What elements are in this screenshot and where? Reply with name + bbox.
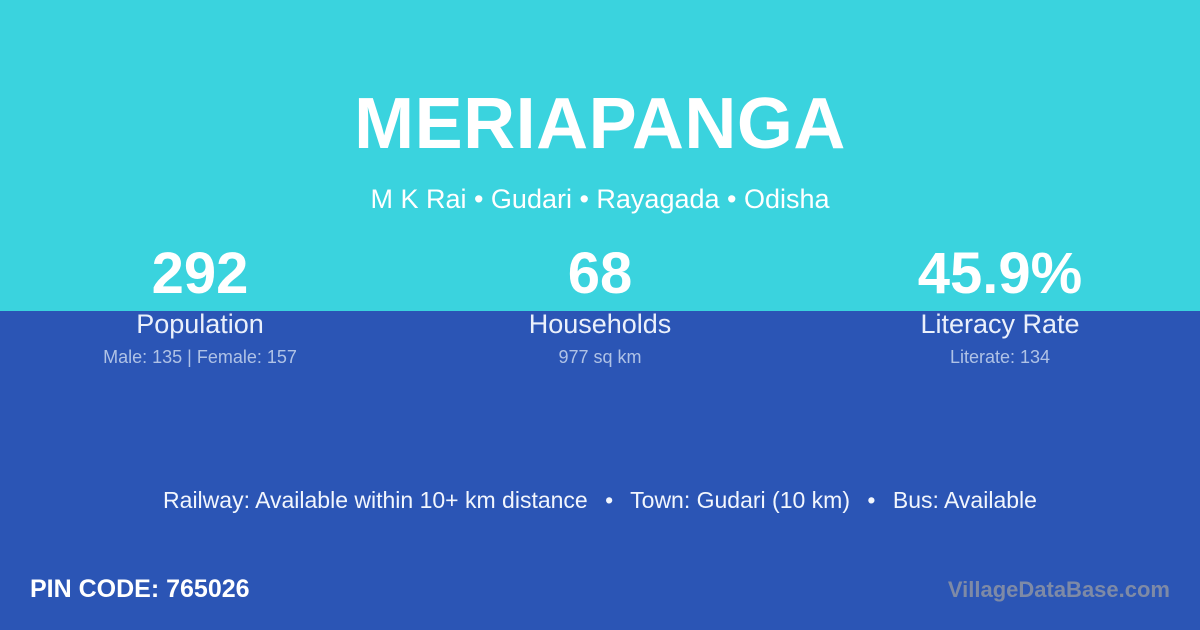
stat-value-population: 292 — [0, 243, 400, 305]
stat-label-households: Households — [400, 309, 800, 339]
stat-value-literacy: 45.9% — [800, 243, 1200, 305]
stat-label-population: Population — [0, 309, 400, 339]
stat-literacy: 45.9% Literacy Rate Literate: 134 — [800, 243, 1200, 368]
page-title: MERIAPANGA — [0, 88, 1200, 160]
breadcrumb: M K Rai • Gudari • Rayagada • Odisha — [0, 183, 1200, 215]
infra-separator-2: • — [856, 485, 886, 515]
stat-sub-households: 977 sq km — [400, 346, 800, 368]
stat-sub-literacy: Literate: 134 — [800, 346, 1200, 368]
village-info-card: MERIAPANGA M K Rai • Gudari • Rayagada •… — [0, 0, 1200, 630]
brand-watermark: VillageDataBase.com — [948, 576, 1170, 604]
stat-population: 292 Population Male: 135 | Female: 157 — [0, 243, 400, 368]
pin-code: PIN CODE: 765026 — [30, 574, 250, 604]
infra-town: Town: Gudari (10 km) — [630, 487, 850, 513]
footer: PIN CODE: 765026 VillageDataBase.com — [0, 558, 1200, 630]
stat-value-households: 68 — [400, 243, 800, 305]
infra-bus: Bus: Available — [893, 487, 1037, 513]
stat-sub-population: Male: 135 | Female: 157 — [0, 346, 400, 368]
infrastructure-row: Railway: Available within 10+ km distanc… — [0, 485, 1200, 515]
stats-row: 292 Population Male: 135 | Female: 157 6… — [0, 243, 1200, 368]
stat-households: 68 Households 977 sq km — [400, 243, 800, 368]
stat-label-literacy: Literacy Rate — [800, 309, 1200, 339]
infra-separator-1: • — [594, 485, 624, 515]
infra-railway: Railway: Available within 10+ km distanc… — [163, 487, 588, 513]
